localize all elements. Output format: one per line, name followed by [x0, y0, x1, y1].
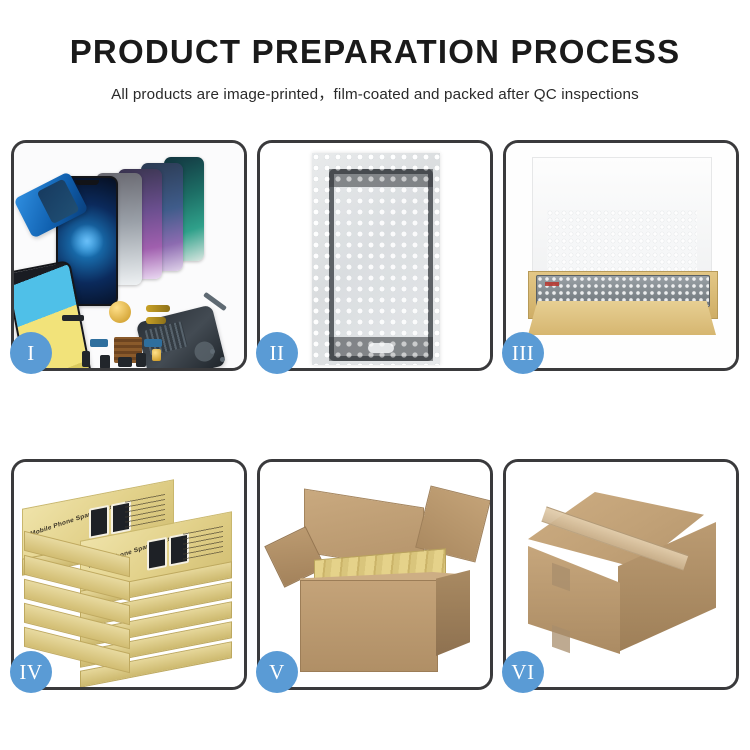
process-step-panel-3[interactable]: III [503, 140, 739, 371]
part-connector-1 [90, 339, 108, 347]
phone-logic-board [136, 304, 227, 368]
phone-notch [75, 180, 99, 185]
process-step-panel-6[interactable]: VI [503, 459, 739, 690]
part-connector-2 [144, 339, 162, 347]
part-screw-1 [210, 349, 215, 354]
page-subtitle: All products are image-printed，film-coat… [0, 82, 750, 104]
step-5-image [260, 462, 490, 687]
box-stack: Mobile Phone Spare Parts Mobile Phone Sp… [18, 470, 244, 686]
step-badge-1: I [10, 332, 52, 374]
part-button-3 [136, 353, 146, 367]
box-phone-image-1a [89, 505, 109, 539]
step-1-image [14, 143, 244, 368]
part-button-2 [100, 355, 110, 368]
part-screw-2 [220, 357, 225, 362]
step-2-image [260, 143, 490, 368]
part-camera-module [118, 357, 132, 367]
carton-front-face [300, 580, 438, 672]
part-button-1 [82, 351, 90, 367]
foam-lid [532, 157, 712, 277]
part-flex-cable-2 [146, 317, 166, 324]
sealed-carton-front-face [528, 546, 620, 654]
wrapped-screen-outline [329, 169, 433, 361]
bubble-wrap-sheet [312, 153, 440, 365]
step-4-image: Mobile Phone Spare Parts Mobile Phone Sp… [14, 462, 244, 687]
process-step-panel-2[interactable]: II [257, 140, 493, 371]
process-step-panel-1[interactable]: I [11, 140, 247, 371]
step-badge-3: III [502, 332, 544, 374]
process-step-panel-5[interactable]: V [257, 459, 493, 690]
step-3-image [506, 143, 736, 368]
part-flex-cable-1 [146, 305, 170, 312]
part-sim-tray [152, 349, 161, 361]
process-steps-grid: I II III [11, 140, 740, 690]
process-step-panel-4[interactable]: Mobile Phone Spare Parts Mobile Phone Sp… [11, 459, 247, 690]
screen-top-bezel [329, 169, 433, 187]
step-badge-6: VI [502, 651, 544, 693]
step-badge-4: IV [10, 651, 52, 693]
kraft-box-front-wall [528, 301, 716, 335]
step-badge-5: V [256, 651, 298, 693]
page-header: PRODUCT PREPARATION PROCESS All products… [0, 0, 750, 104]
step-6-image [506, 462, 736, 687]
box-spec-text-2 [183, 524, 223, 560]
page-title: PRODUCT PREPARATION PROCESS [0, 34, 750, 70]
step-badge-2: II [256, 332, 298, 374]
box-phone-image-2a [147, 537, 167, 571]
box-spec-text-1 [125, 492, 165, 528]
part-vibration-motor [109, 301, 131, 323]
home-button [367, 342, 395, 354]
carton-side-face [436, 570, 470, 656]
red-label-mark [545, 282, 559, 286]
part-speaker-mesh [62, 315, 84, 321]
